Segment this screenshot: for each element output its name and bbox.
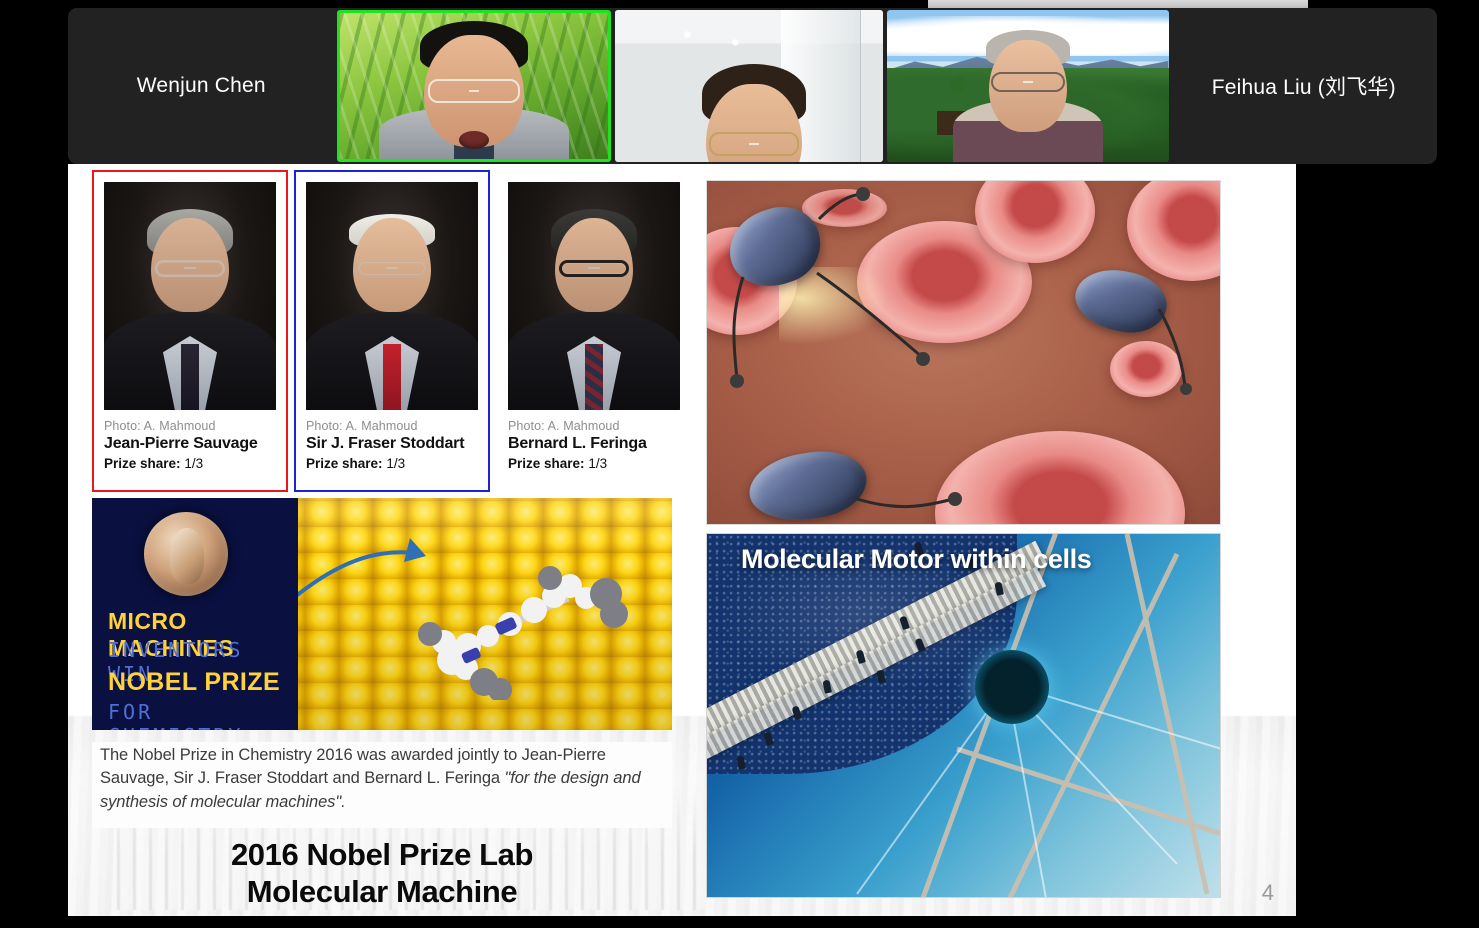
prize-share-value: 1/3 <box>588 456 607 471</box>
laureate-prize-share: Prize share: 1/3 <box>306 456 478 471</box>
laureate-name: Jean-Pierre Sauvage <box>104 435 276 453</box>
laureate-card-feringa[interactable]: Photo: A. Mahmoud Bernard L. Feringa Pri… <box>496 170 692 492</box>
participant-video-strip: Wenjun Chen <box>68 8 1437 164</box>
nanobot-flagella <box>707 181 1220 524</box>
prize-share-label: Prize share: <box>306 456 383 471</box>
slide-number: 4 <box>1262 880 1274 906</box>
nobel-description-text: The Nobel Prize in Chemistry 2016 was aw… <box>92 742 672 828</box>
nanocar-on-gold-image <box>298 498 672 730</box>
video-tile-participant-3[interactable] <box>887 10 1169 162</box>
laureate-portrait-stoddart <box>306 182 478 410</box>
molecular-nanocar <box>400 550 650 700</box>
laureate-prize-share: Prize share: 1/3 <box>104 456 276 471</box>
micro-machines-banner: MICRO MACHINES INVENTORS WIN NOBEL PRIZE… <box>92 498 672 730</box>
banner-text-panel: MICRO MACHINES INVENTORS WIN NOBEL PRIZE… <box>92 498 298 730</box>
screen-share-stage: Photo: A. Mahmoud Jean-Pierre Sauvage Pr… <box>0 0 1479 928</box>
laureate-prize-share: Prize share: 1/3 <box>508 456 680 471</box>
shared-slide[interactable]: Photo: A. Mahmoud Jean-Pierre Sauvage Pr… <box>68 164 1296 916</box>
laureate-portrait-sauvage <box>104 182 276 410</box>
laureate-photo-credit: Photo: A. Mahmoud <box>306 419 478 433</box>
slide-title-line-2: Molecular Machine <box>92 873 672 910</box>
participant-name-feihua-liu[interactable]: Feihua Liu (刘飞华) <box>1171 71 1438 101</box>
prize-share-label: Prize share: <box>508 456 585 471</box>
laureate-name: Sir J. Fraser Stoddart <box>306 435 478 453</box>
molecular-motor-cell-image: Molecular Motor within cells <box>706 533 1221 898</box>
slide-title: 2016 Nobel Prize Lab Molecular Machine <box>92 836 672 910</box>
video-tile-participant-2[interactable] <box>615 10 883 162</box>
nobel-medal-icon <box>144 512 228 596</box>
laureate-card-sauvage[interactable]: Photo: A. Mahmoud Jean-Pierre Sauvage Pr… <box>92 170 288 492</box>
participant3-glasses <box>991 72 1065 92</box>
video-tile-active-speaker[interactable] <box>337 10 611 162</box>
nanobots-in-bloodstream-image <box>706 180 1221 525</box>
laureate-card-stoddart[interactable]: Photo: A. Mahmoud Sir J. Fraser Stoddart… <box>294 170 490 492</box>
molecular-motor-title: Molecular Motor within cells <box>741 544 1091 575</box>
laureate-photo-credit: Photo: A. Mahmoud <box>508 419 680 433</box>
participant2-glasses <box>709 132 799 156</box>
prize-share-value: 1/3 <box>184 456 203 471</box>
laureate-photo-credit: Photo: A. Mahmoud <box>104 419 276 433</box>
speaker-mouth <box>459 131 489 149</box>
laureate-portrait-feringa <box>508 182 680 410</box>
speaker-glasses <box>428 79 520 103</box>
participant-name-wenjun-chen[interactable]: Wenjun Chen <box>68 74 335 98</box>
prize-share-label: Prize share: <box>104 456 181 471</box>
laureate-name: Bernard L. Feringa <box>508 435 680 453</box>
prize-share-value: 1/3 <box>386 456 405 471</box>
banner-line-3: NOBEL PRIZE <box>108 668 294 697</box>
banner-line-4: FOR CHEMISTRY <box>108 700 298 730</box>
nobel-laureates-row: Photo: A. Mahmoud Jean-Pierre Sauvage Pr… <box>92 170 702 492</box>
slide-title-line-1: 2016 Nobel Prize Lab <box>92 836 672 873</box>
